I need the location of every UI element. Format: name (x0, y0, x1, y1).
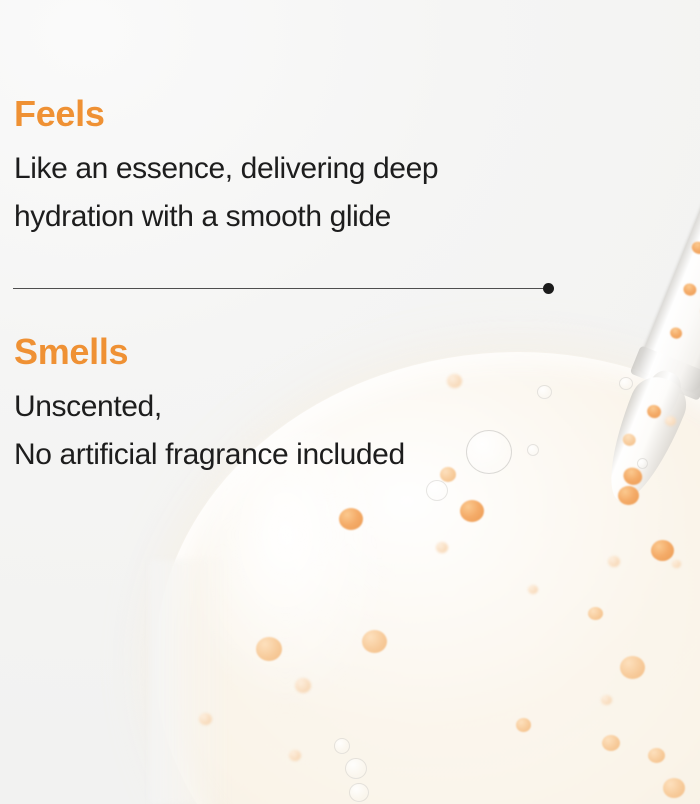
section-smells-body: Unscented, No artificial fragrance inclu… (14, 374, 405, 479)
copy-overlay: Feels Like an essence, delivering deep h… (0, 0, 700, 804)
section-feels-body: Like an essence, delivering deep hydrati… (14, 136, 438, 241)
section-smells-heading: Smells (14, 330, 405, 374)
section-feels: Feels Like an essence, delivering deep h… (14, 92, 438, 241)
section-divider-dot (543, 283, 554, 294)
section-divider (13, 288, 549, 289)
product-feature-panel: Feels Like an essence, delivering deep h… (0, 0, 700, 804)
section-feels-heading: Feels (14, 92, 438, 136)
section-smells: Smells Unscented, No artificial fragranc… (14, 330, 405, 479)
